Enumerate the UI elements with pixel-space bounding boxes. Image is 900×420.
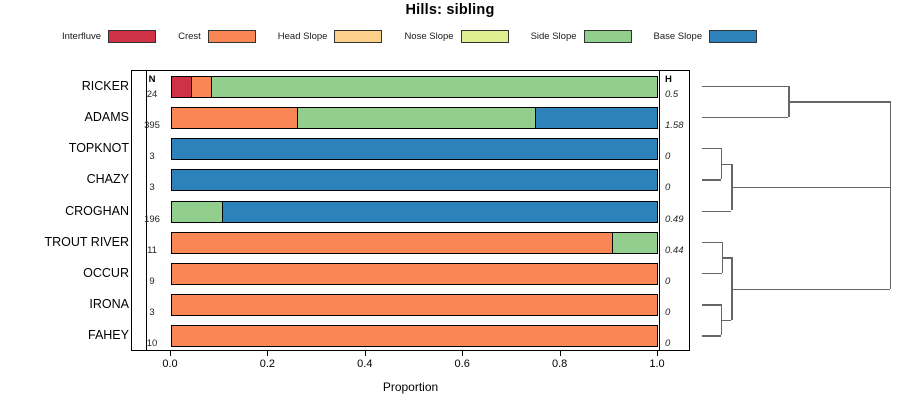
row-label-occur: OCCUR	[83, 266, 129, 280]
bar-occur[interactable]	[171, 263, 658, 285]
dendrogram-link	[788, 101, 890, 102]
dendrogram-link	[702, 211, 731, 212]
dendrogram-link	[731, 187, 890, 188]
x-tick-label: 0.4	[357, 358, 372, 370]
x-axis-label: Proportion	[131, 380, 690, 394]
row-label-ricker: RICKER	[82, 79, 129, 93]
legend-item-crest[interactable]: Crest	[178, 30, 256, 43]
x-tick	[560, 351, 561, 356]
row-label-adams: ADAMS	[85, 110, 129, 124]
bar-fahey[interactable]	[171, 325, 658, 347]
x-tick	[462, 351, 463, 356]
legend-label: Crest	[178, 31, 201, 42]
n-value: 395	[135, 120, 169, 131]
bar-segment-base-slope[interactable]	[536, 108, 657, 128]
legend-item-head-slope[interactable]: Head Slope	[278, 30, 383, 43]
bar-segment-crest[interactable]	[172, 233, 613, 253]
legend-swatch-nose-slope	[461, 30, 509, 43]
dendrogram-link	[721, 164, 731, 165]
legend-swatch-side-slope	[584, 30, 632, 43]
bar-croghan[interactable]	[171, 201, 658, 223]
plot-panel: NHRICKER240.5ADAMS3951.58TOPKNOT30CHAZY3…	[131, 70, 690, 351]
n-column-header: N	[137, 74, 167, 85]
bar-segment-crest[interactable]	[172, 264, 657, 284]
n-value: 3	[135, 151, 169, 162]
n-value: 3	[135, 182, 169, 193]
legend-label: Nose Slope	[404, 31, 453, 42]
n-value: 9	[135, 276, 169, 287]
bar-trout-river[interactable]	[171, 232, 658, 254]
legend-item-base-slope[interactable]: Base Slope	[654, 30, 758, 43]
n-value: 24	[135, 89, 169, 100]
bar-segment-side-slope[interactable]	[298, 108, 536, 128]
row-label-fahey: FAHEY	[88, 328, 129, 342]
legend-label: Interfluve	[62, 31, 101, 42]
x-tick-label: 1.0	[649, 358, 664, 370]
dendrogram-root	[890, 101, 891, 288]
bar-segment-crest[interactable]	[172, 108, 298, 128]
x-tick	[365, 351, 366, 356]
bar-adams[interactable]	[171, 107, 658, 129]
n-value: 11	[135, 245, 169, 256]
bar-segment-side-slope[interactable]	[613, 233, 657, 253]
dendrogram-link	[722, 257, 731, 258]
chart-title: Hills: sibling	[0, 2, 900, 18]
bar-chazy[interactable]	[171, 169, 658, 191]
bar-segment-crest[interactable]	[172, 295, 657, 315]
bar-segment-base-slope[interactable]	[172, 170, 657, 190]
row-label-chazy: CHAZY	[87, 172, 129, 186]
x-tick-label: 0.8	[552, 358, 567, 370]
legend: InterfluveCrestHead SlopeNose SlopeSide …	[62, 27, 762, 45]
bar-segment-interfluve[interactable]	[172, 77, 192, 97]
dendrogram-link	[721, 320, 731, 321]
bar-segment-crest[interactable]	[172, 326, 657, 346]
row-label-topknot: TOPKNOT	[69, 141, 129, 155]
dendrogram-link	[702, 179, 721, 180]
dendrogram-link	[702, 86, 788, 87]
n-value: 10	[135, 338, 169, 349]
dendrogram-link	[702, 304, 721, 305]
n-value: 196	[135, 214, 169, 225]
bar-rows: NHRICKER240.5ADAMS3951.58TOPKNOT30CHAZY3…	[132, 71, 689, 350]
bar-segment-crest[interactable]	[192, 77, 212, 97]
n-value: 3	[135, 307, 169, 318]
bar-segment-base-slope[interactable]	[172, 139, 657, 159]
x-tick-label: 0.2	[260, 358, 275, 370]
dendrogram-link	[702, 242, 722, 243]
legend-swatch-base-slope	[709, 30, 757, 43]
legend-item-nose-slope[interactable]: Nose Slope	[404, 30, 508, 43]
h-column-header: H	[665, 74, 691, 85]
dendrogram-link	[702, 335, 721, 336]
bar-irona[interactable]	[171, 294, 658, 316]
chart-root: Hills: sibling InterfluveCrestHead Slope…	[0, 0, 900, 420]
legend-swatch-crest	[208, 30, 256, 43]
legend-label: Base Slope	[654, 31, 703, 42]
dendrogram-link	[731, 289, 890, 290]
legend-label: Side Slope	[531, 31, 577, 42]
bar-ricker[interactable]	[171, 76, 658, 98]
bar-segment-base-slope[interactable]	[223, 202, 657, 222]
row-label-trout-river: TROUT RIVER	[45, 235, 130, 249]
dendrogram-link	[702, 148, 721, 149]
x-tick	[267, 351, 268, 356]
dendrogram	[690, 70, 895, 351]
dendrogram-link	[702, 273, 722, 274]
x-tick	[170, 351, 171, 356]
bar-segment-side-slope[interactable]	[172, 202, 223, 222]
row-label-irona: IRONA	[89, 297, 129, 311]
bar-topknot[interactable]	[171, 138, 658, 160]
row-label-croghan: CROGHAN	[65, 204, 129, 218]
x-tick	[657, 351, 658, 356]
legend-swatch-head-slope	[334, 30, 382, 43]
dendrogram-link	[702, 117, 788, 118]
bar-segment-side-slope[interactable]	[212, 77, 657, 97]
x-tick-label: 0.0	[162, 358, 177, 370]
legend-item-interfluve[interactable]: Interfluve	[62, 30, 156, 43]
legend-item-side-slope[interactable]: Side Slope	[531, 30, 632, 43]
legend-label: Head Slope	[278, 31, 328, 42]
x-tick-label: 0.6	[455, 358, 470, 370]
legend-swatch-interfluve	[108, 30, 156, 43]
x-axis: 0.00.20.40.60.81.0	[131, 351, 690, 381]
